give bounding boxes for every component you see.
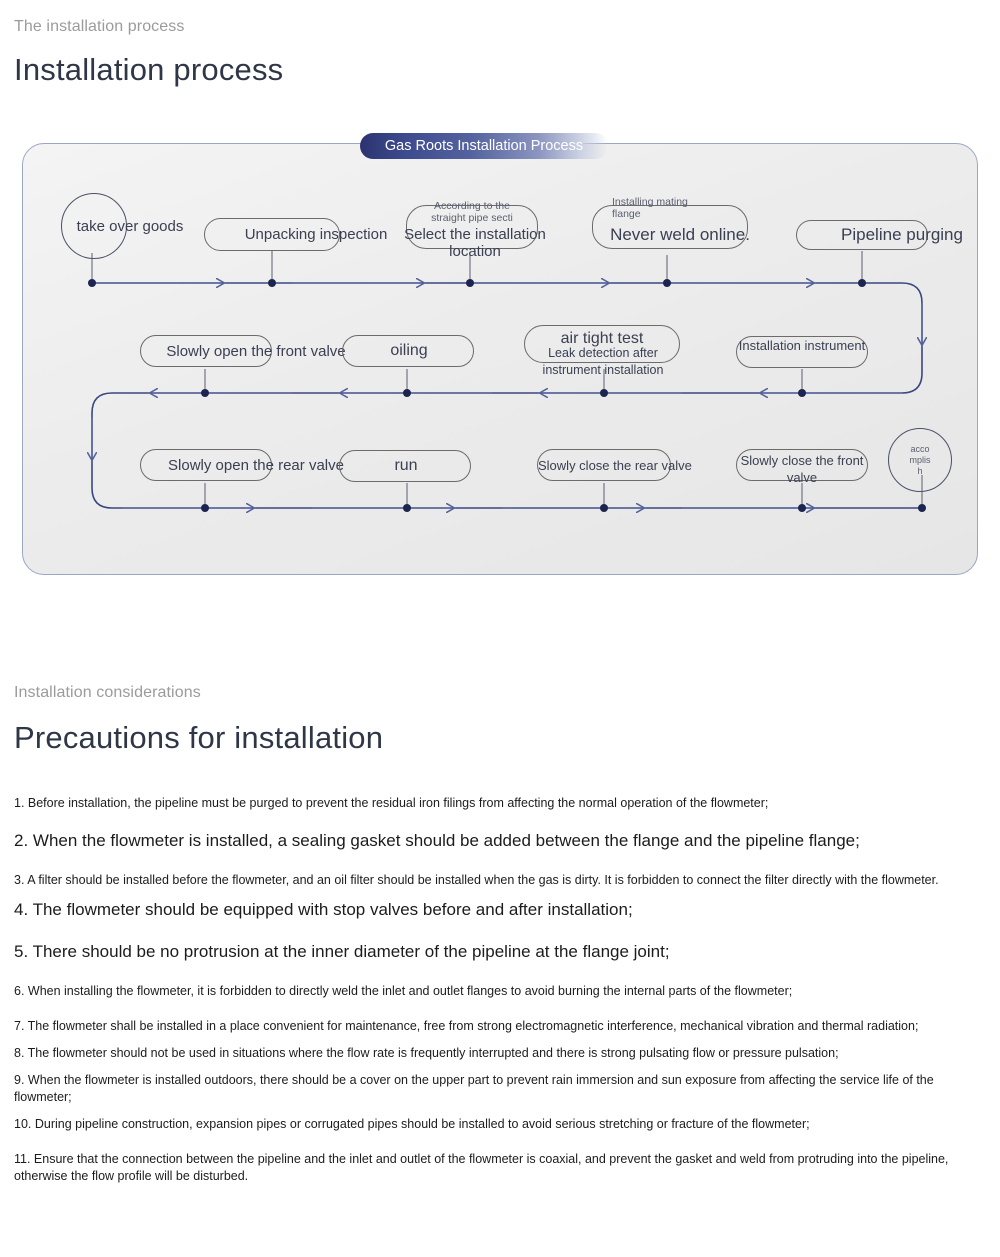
list-item: 8. The flowmeter should not be used in s… — [14, 1045, 986, 1062]
section-eyebrow-installation-process: The installation process — [14, 18, 185, 36]
flow-node-slowly-open-rear-valve[interactable]: Slowly open the rear valve — [140, 449, 272, 481]
page-title-precautions: Precautions for installation — [14, 720, 383, 756]
flow-node-subtext: Installing mating flange — [612, 197, 722, 220]
flow-node-oiling[interactable]: oiling — [342, 335, 474, 367]
flow-node-label: Slowly open the rear valve — [146, 457, 366, 474]
flowchart-banner-title: Gas Roots Installation Process — [360, 133, 608, 159]
section-eyebrow-installation-considerations: Installation considerations — [14, 684, 201, 702]
flow-node-installation-instrument[interactable] — [736, 336, 868, 368]
list-item: 4. The flowmeter should be equipped with… — [14, 899, 986, 921]
flow-node-unpacking-inspection[interactable]: Unpacking inspection — [204, 218, 340, 251]
flow-node-label: Slowly open the front valve — [146, 343, 366, 360]
list-item: 11. Ensure that the connection between t… — [14, 1151, 986, 1185]
flow-node-label: Slowly close the rear valve — [538, 458, 672, 473]
flow-node-accomplish[interactable]: acco mplis h — [888, 428, 952, 492]
list-item: 6. When installing the flowmeter, it is … — [14, 983, 986, 1000]
flow-node-label: Unpacking inspection — [231, 226, 401, 243]
list-item: 7. The flowmeter shall be installed in a… — [14, 1018, 986, 1035]
list-item: 5. There should be no protrusion at the … — [14, 941, 986, 963]
flow-node-label: run — [340, 457, 472, 475]
flow-node-subtext: Leak detection after instrument installa… — [520, 345, 686, 379]
page-title-installation-process: Installation process — [14, 52, 283, 88]
flow-node-slowly-close-rear-valve[interactable]: Slowly close the rear valve — [537, 449, 671, 481]
precautions-list: 1. Before installation, the pipeline mus… — [14, 795, 986, 1203]
list-item: 10. During pipeline construction, expans… — [14, 1116, 986, 1133]
flow-node-run[interactable]: run — [339, 450, 471, 482]
flow-node-subtext: According to the straight pipe secti — [402, 201, 542, 224]
flow-node-slowly-close-front-valve[interactable] — [736, 449, 868, 481]
flow-node-label: acco mplis h — [909, 444, 930, 477]
flow-node-slowly-open-front-valve[interactable]: Slowly open the front valve — [140, 335, 272, 367]
list-item: 2. When the flowmeter is installed, a se… — [14, 830, 986, 852]
list-item: 9. When the flowmeter is installed outdo… — [14, 1072, 986, 1106]
flow-node-label: take over goods — [60, 218, 200, 235]
list-item: 1. Before installation, the pipeline mus… — [14, 795, 986, 812]
flow-node-take-over-goods[interactable]: take over goods — [61, 193, 127, 259]
flow-node-label: oiling — [343, 342, 475, 360]
flow-node-label: Pipeline purging — [817, 225, 987, 245]
flow-node-pipeline-purging[interactable]: Pipeline purging — [796, 220, 928, 250]
list-item: 3. A filter should be installed before t… — [14, 872, 986, 889]
